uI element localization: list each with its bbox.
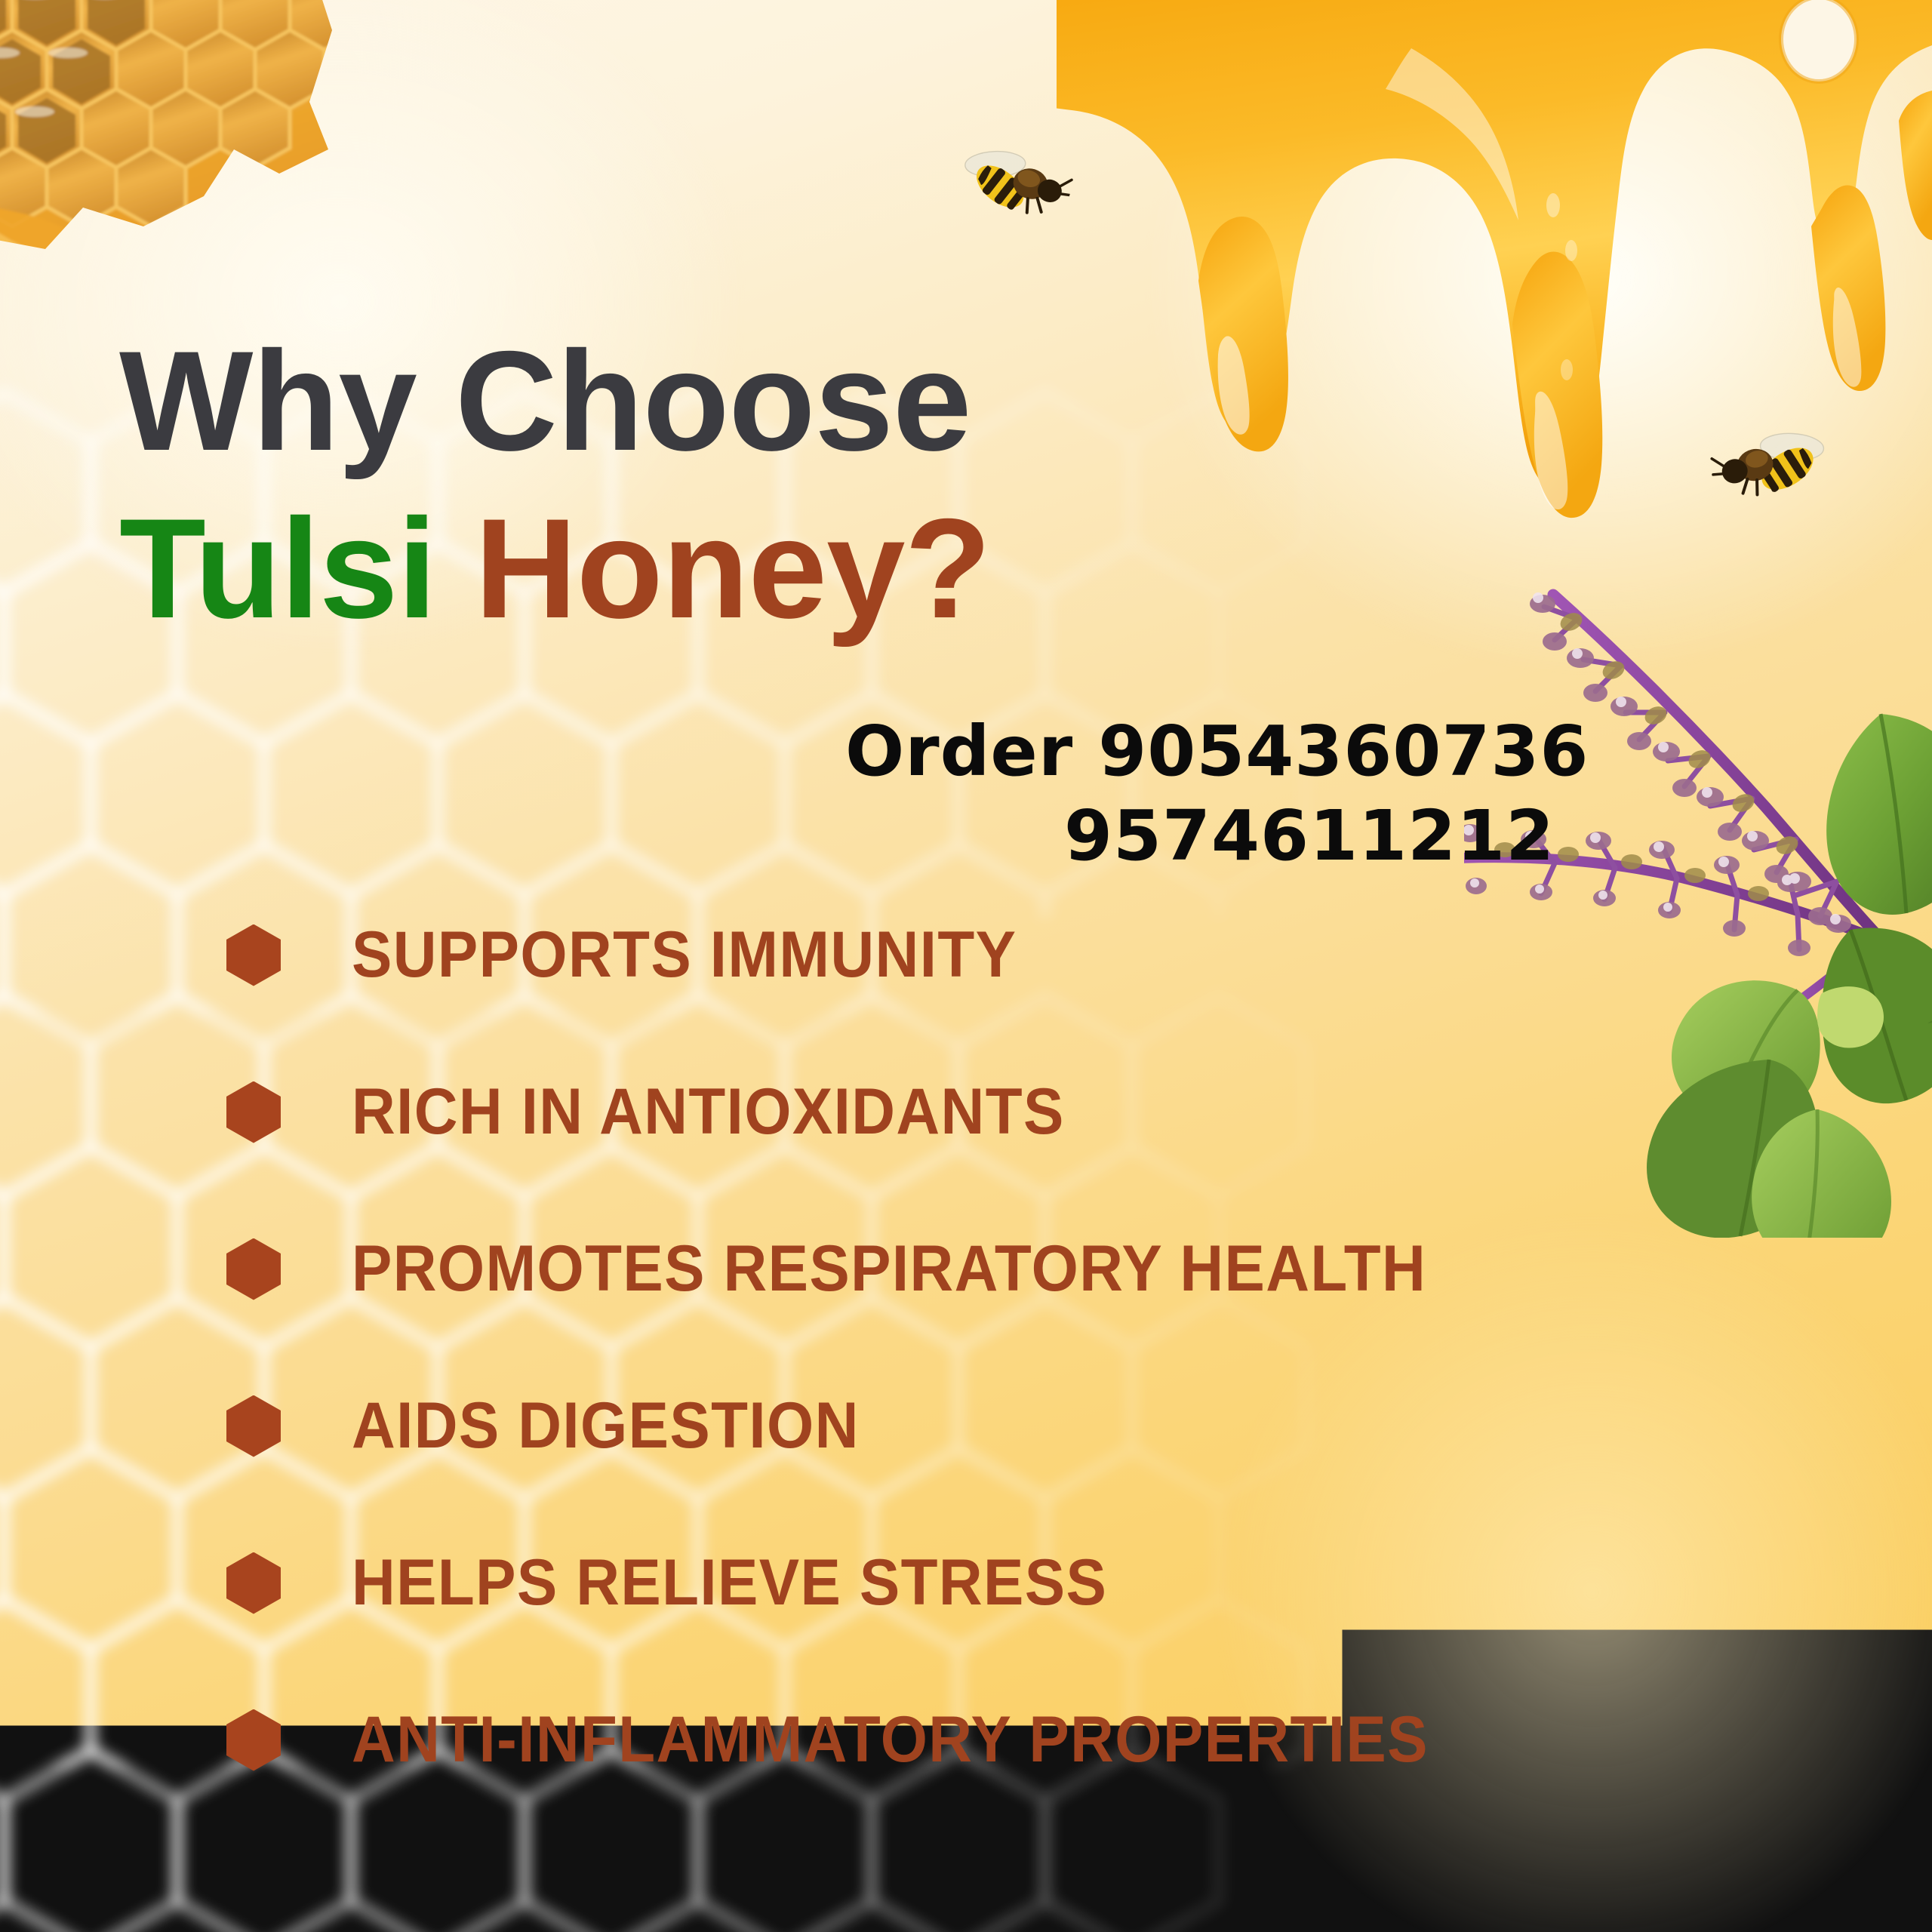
benefit-label: ANTI-INFLAMMATORY PROPERTIES <box>352 1703 1429 1777</box>
list-item: ANTI-INFLAMMATORY PROPERTIES <box>226 1690 1811 1789</box>
list-item: HELPS RELIEVE STRESS <box>226 1534 1811 1632</box>
headline-word-honey: Honey? <box>475 489 990 648</box>
benefit-label: HELPS RELIEVE STRESS <box>352 1546 1107 1620</box>
benefit-label: AIDS DIGESTION <box>352 1389 860 1463</box>
benefit-label: SUPPORTS IMMUNITY <box>352 918 1017 992</box>
benefit-label: PROMOTES RESPIRATORY HEALTH <box>352 1232 1426 1306</box>
headline-line-2: Tulsi Honey? <box>119 500 1251 637</box>
list-item: AIDS DIGESTION <box>226 1377 1811 1475</box>
hexagon-bullet-icon <box>226 1552 281 1614</box>
list-item: PROMOTES RESPIRATORY HEALTH <box>226 1220 1811 1318</box>
hexagon-bullet-icon <box>226 1709 281 1771</box>
hexagon-bullet-icon <box>226 924 281 986</box>
list-item: RICH IN ANTIOXIDANTS <box>226 1063 1811 1161</box>
order-phone-secondary[interactable]: 9574611212 <box>845 794 1796 878</box>
hexagon-bullet-icon <box>226 1238 281 1300</box>
order-contact-block: Order 9054360736 9574611212 <box>845 709 1796 878</box>
order-phone-primary[interactable]: Order 9054360736 <box>845 709 1796 794</box>
benefits-list: SUPPORTS IMMUNITY RICH IN ANTIOXIDANTS P… <box>226 906 1811 1847</box>
poster-canvas: Why Choose Tulsi Honey? Order 9054360736… <box>0 0 1932 1932</box>
headline-line-1: Why Choose <box>119 332 1251 469</box>
hexagon-bullet-icon <box>226 1395 281 1457</box>
hexagon-bullet-icon <box>226 1081 281 1143</box>
headline-word-tulsi: Tulsi <box>119 489 436 648</box>
list-item: SUPPORTS IMMUNITY <box>226 906 1811 1004</box>
page-title: Why Choose Tulsi Honey? <box>119 332 1251 638</box>
honeycomb-icon <box>0 0 423 302</box>
benefit-label: RICH IN ANTIOXIDANTS <box>352 1075 1065 1149</box>
